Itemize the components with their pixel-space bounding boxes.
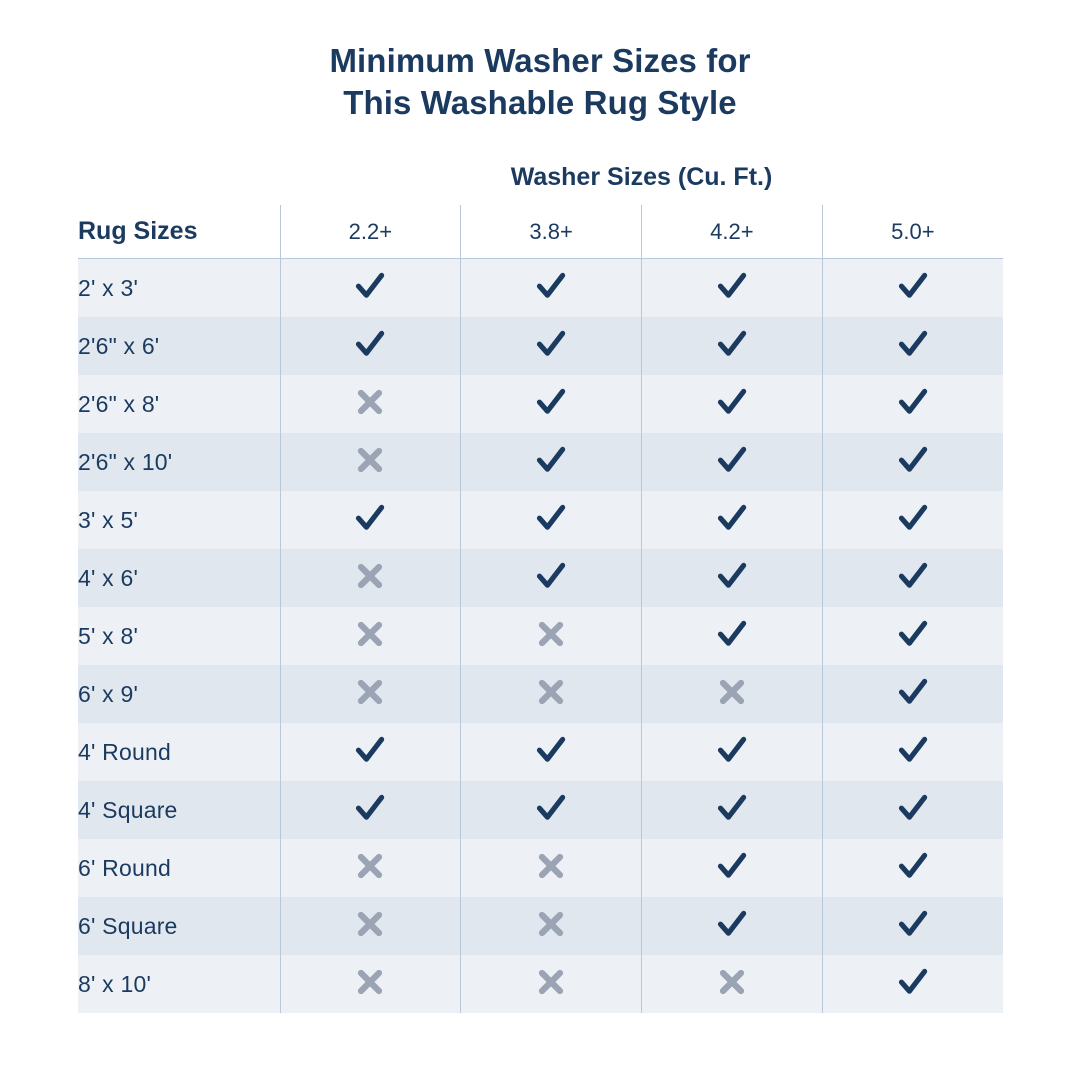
check-icon [896,269,930,303]
cross-icon [355,445,385,475]
cell-does-not-fit [642,665,823,723]
check-icon [534,443,568,477]
table-row: 2'6" x 10' [78,433,1003,491]
cell-does-not-fit [461,897,642,955]
cross-icon [536,967,566,997]
cross-icon [355,909,385,939]
row-label-rug-size: 2'6" x 8' [78,375,280,433]
check-icon [715,733,749,767]
cell-fits [280,259,461,318]
table-header: Rug Sizes 2.2+ 3.8+ 4.2+ 5.0+ [78,205,1003,259]
row-label-rug-size: 6' Round [78,839,280,897]
cell-fits [822,549,1003,607]
table-row: 4' Round [78,723,1003,781]
cell-fits [461,781,642,839]
check-icon [715,559,749,593]
check-icon [715,849,749,883]
row-label-rug-size: 8' x 10' [78,955,280,1013]
cell-does-not-fit [280,549,461,607]
cross-icon [355,561,385,591]
check-icon [715,501,749,535]
check-icon [353,269,387,303]
cell-fits [280,723,461,781]
check-icon [896,965,930,999]
cell-fits [822,897,1003,955]
check-icon [715,443,749,477]
table-row: 6' Round [78,839,1003,897]
row-label-rug-size: 6' Square [78,897,280,955]
row-label-rug-size: 4' Round [78,723,280,781]
check-icon [896,501,930,535]
check-icon [353,791,387,825]
column-header-1: 3.8+ [461,205,642,259]
cell-fits [822,839,1003,897]
column-header-0: 2.2+ [280,205,461,259]
cell-fits [461,491,642,549]
cell-does-not-fit [280,433,461,491]
table-row: 6' x 9' [78,665,1003,723]
cell-fits [642,375,823,433]
check-icon [896,617,930,651]
washer-sizes-group-header: Washer Sizes (Cu. Ft.) [78,160,1003,204]
cross-icon [536,619,566,649]
cell-does-not-fit [461,607,642,665]
check-icon [896,791,930,825]
cell-fits [461,317,642,375]
group-header-label: Washer Sizes (Cu. Ft.) [280,160,1003,204]
table-row: 4' x 6' [78,549,1003,607]
page-title: Minimum Washer Sizes for This Washable R… [0,0,1080,124]
check-icon [715,385,749,419]
column-header-rug-sizes: Rug Sizes [78,205,280,259]
row-label-rug-size: 4' x 6' [78,549,280,607]
cross-icon [355,677,385,707]
check-icon [896,559,930,593]
cell-fits [642,839,823,897]
check-icon [534,733,568,767]
cell-does-not-fit [280,839,461,897]
cell-fits [642,549,823,607]
cell-does-not-fit [280,607,461,665]
cell-does-not-fit [280,897,461,955]
cell-fits [280,781,461,839]
check-icon [715,791,749,825]
cell-fits [280,317,461,375]
check-icon [353,327,387,361]
cell-fits [461,433,642,491]
page-title-line-1: Minimum Washer Sizes for [0,40,1080,82]
table-row: 3' x 5' [78,491,1003,549]
table-row: 4' Square [78,781,1003,839]
column-header-3: 5.0+ [822,205,1003,259]
cell-does-not-fit [280,665,461,723]
check-icon [896,849,930,883]
check-icon [896,907,930,941]
cell-fits [461,723,642,781]
check-icon [715,617,749,651]
cell-fits [461,259,642,318]
cell-fits [642,723,823,781]
cross-icon [717,677,747,707]
check-icon [896,385,930,419]
row-label-rug-size: 5' x 8' [78,607,280,665]
cell-does-not-fit [280,375,461,433]
cell-fits [822,665,1003,723]
row-label-rug-size: 2' x 3' [78,259,280,318]
infographic-page: Minimum Washer Sizes for This Washable R… [0,0,1080,1080]
check-icon [534,269,568,303]
row-label-rug-size: 6' x 9' [78,665,280,723]
table-row: 2' x 3' [78,259,1003,318]
cross-icon [355,387,385,417]
table-row: 5' x 8' [78,607,1003,665]
check-icon [715,269,749,303]
check-icon [353,733,387,767]
cell-does-not-fit [642,955,823,1013]
cell-does-not-fit [280,955,461,1013]
cell-does-not-fit [461,839,642,897]
cell-fits [822,955,1003,1013]
cross-icon [536,851,566,881]
cell-does-not-fit [461,665,642,723]
cross-icon [355,851,385,881]
cell-fits [822,491,1003,549]
cell-fits [642,607,823,665]
cell-does-not-fit [461,955,642,1013]
check-icon [534,791,568,825]
cell-fits [822,317,1003,375]
cell-fits [822,781,1003,839]
row-label-rug-size: 3' x 5' [78,491,280,549]
cell-fits [642,433,823,491]
washer-size-matrix: Rug Sizes 2.2+ 3.8+ 4.2+ 5.0+ 2' x 3'2'6… [78,205,1003,1013]
cross-icon [355,967,385,997]
cell-fits [822,723,1003,781]
cross-icon [355,619,385,649]
column-header-2: 4.2+ [642,205,823,259]
row-label-rug-size: 2'6" x 10' [78,433,280,491]
table-row: 2'6" x 8' [78,375,1003,433]
check-icon [896,327,930,361]
table-header-row: Rug Sizes 2.2+ 3.8+ 4.2+ 5.0+ [78,205,1003,259]
cell-fits [642,897,823,955]
row-label-rug-size: 4' Square [78,781,280,839]
check-icon [896,733,930,767]
cross-icon [717,967,747,997]
cell-fits [642,781,823,839]
table-row: 2'6" x 6' [78,317,1003,375]
check-icon [715,907,749,941]
cell-fits [822,259,1003,318]
cell-fits [280,491,461,549]
cell-fits [822,375,1003,433]
check-icon [534,501,568,535]
cell-fits [642,259,823,318]
check-icon [715,327,749,361]
check-icon [896,443,930,477]
check-icon [896,675,930,709]
cell-fits [642,491,823,549]
cross-icon [536,677,566,707]
check-icon [534,327,568,361]
check-icon [534,385,568,419]
cross-icon [536,909,566,939]
cell-fits [642,317,823,375]
page-title-line-2: This Washable Rug Style [0,82,1080,124]
group-header-spacer [78,160,280,204]
check-icon [353,501,387,535]
table-row: 6' Square [78,897,1003,955]
table-row: 8' x 10' [78,955,1003,1013]
cell-fits [461,375,642,433]
check-icon [534,559,568,593]
cell-fits [822,607,1003,665]
compatibility-table: Rug Sizes 2.2+ 3.8+ 4.2+ 5.0+ 2' x 3'2'6… [78,205,1003,1013]
cell-fits [822,433,1003,491]
table-body: 2' x 3'2'6" x 6'2'6" x 8'2'6" x 10'3' x … [78,259,1003,1014]
cell-fits [461,549,642,607]
row-label-rug-size: 2'6" x 6' [78,317,280,375]
